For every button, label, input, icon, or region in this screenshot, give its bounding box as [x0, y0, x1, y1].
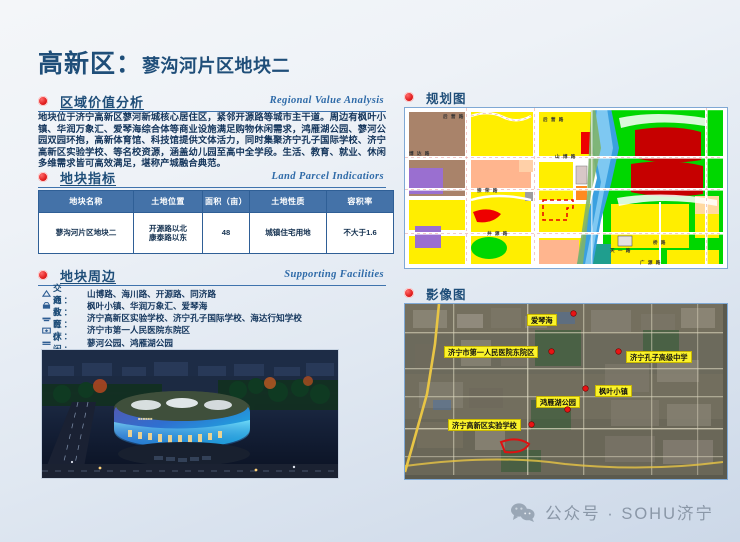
section-bullet-icon: [404, 288, 414, 298]
facility-value: 蓼河公园、鸿雁湖公园: [87, 337, 173, 349]
svg-text:■■■■■■: ■■■■■■: [138, 416, 153, 421]
commerce-icon: [40, 301, 53, 310]
wechat-icon: [510, 502, 536, 522]
map-poi-marker[interactable]: [583, 386, 588, 391]
facility-row: 医 疗：济宁市第一人民医院东院区: [40, 325, 386, 337]
map-poi-marker[interactable]: [616, 349, 621, 354]
facility-row: 休 闲：蓼河公园、鸿雁湖公园: [40, 337, 386, 349]
map-poi-label[interactable]: 爱琴海: [527, 314, 557, 326]
map-poi-label[interactable]: 鸿雁湖公园: [536, 396, 580, 408]
cell-location-line1: 开源路以北: [135, 224, 201, 234]
planning-road-label: 崇 荣 路: [477, 188, 498, 194]
education-icon: [40, 314, 53, 323]
planning-road-label: 山 博 路: [555, 154, 576, 160]
cell-far: 不大于1.6: [327, 213, 394, 254]
leisure-icon: [40, 338, 53, 347]
section-bullet-icon: [38, 96, 48, 106]
satellite-map[interactable]: 爱琴海济宁市第一人民医院东院区济宁孔子高级中学枫叶小镇鸿雁湖公园济宁高新区实验学…: [404, 303, 728, 480]
rendering-illustration: ■■■■■■: [42, 350, 338, 478]
table-header-nature: 土地性质: [250, 191, 327, 213]
map-poi-label[interactable]: 济宁高新区实验学校: [448, 419, 521, 431]
map-poi-label[interactable]: 济宁市第一人民医院东院区: [444, 346, 538, 358]
map-poi-marker[interactable]: [549, 349, 554, 354]
table-header-location: 土地位置: [134, 191, 203, 213]
section-satellite-map: 影像图: [404, 284, 730, 301]
section-title-planning-map: 规划图: [426, 88, 467, 107]
section-bullet-icon: [404, 92, 414, 102]
map-poi-marker[interactable]: [571, 311, 576, 316]
table-header-row: 地块名称 土地位置 面积（亩） 土地性质 容积率: [39, 191, 394, 213]
section-bullet-icon: [38, 270, 48, 280]
facility-value: 山博路、海川路、开源路、同济路: [87, 288, 216, 300]
planning-map[interactable]: 后 营 路后 营 路山 博 路博 达 路崇 荣 路井 源 路广 源 路天 一 路…: [404, 107, 728, 269]
page-title: 高新区：蓼沟河片区地块二: [38, 44, 290, 80]
section-bullet-icon: [38, 172, 48, 182]
section-title-satellite-map: 影像图: [426, 284, 467, 303]
planning-map-graphic: [405, 108, 723, 264]
section-indicators: 地块指标 Land Parcel Indicatiors: [38, 168, 386, 188]
cell-location-line2: 康泰路以东: [135, 233, 201, 243]
footer-brand: 公众号 · SOHU济宁: [510, 500, 714, 524]
medical-icon: [40, 326, 53, 335]
map-poi-marker[interactable]: [565, 407, 570, 412]
section-title-indicators: 地块指标: [60, 168, 116, 187]
page-title-parcel: 蓼沟河片区地块二: [142, 56, 290, 76]
facility-row: 商 业：枫叶小镇、华润万象汇、爱琴海: [40, 300, 386, 312]
facility-value: 济宁市第一人民医院东院区: [87, 324, 190, 336]
section-subtitle-value-analysis: Regional Value Analysis: [270, 95, 384, 106]
planning-road-label: 井 源 路: [487, 231, 508, 237]
satellite-map-graphic: [405, 304, 723, 475]
cell-location: 开源路以北 康泰路以东: [134, 213, 203, 254]
planning-road-label: 天 一 路: [610, 248, 631, 254]
cell-parcel-name: 蓼沟河片区地块二: [39, 213, 134, 254]
planning-road-label: 后 营 路: [443, 114, 464, 120]
facilities-list: 交 通：山博路、海川路、开源路、同济路商 业：枫叶小镇、华润万象汇、爱琴海教 育…: [40, 288, 386, 349]
map-poi-marker[interactable]: [529, 422, 534, 427]
table-row: 蓼沟河片区地块二 开源路以北 康泰路以东 48 城镇住宅用地 不大于1.6: [39, 213, 394, 254]
footer-text: 公众号 · SOHU济宁: [545, 500, 714, 524]
section-title-value-analysis: 区域价值分析: [60, 92, 144, 111]
section-planning-map: 规划图: [404, 88, 730, 105]
wechat-glyph: [510, 502, 536, 522]
section-subtitle-facilities: Supporting Facilities: [284, 269, 384, 280]
page-title-district: 高新区：: [38, 50, 142, 78]
planning-road-label: 桥 路: [653, 240, 666, 246]
table-header-name: 地块名称: [39, 191, 134, 213]
facility-value: 枫叶小镇、华润万象汇、爱琴海: [87, 300, 207, 312]
planning-road-label: 博 达 路: [409, 151, 430, 157]
section-facilities: 地块周边 Supporting Facilities: [38, 266, 386, 286]
section-value-analysis: 区域价值分析 Regional Value Analysis: [38, 92, 386, 112]
planning-road-label: 广 源 路: [640, 260, 661, 266]
cell-nature: 城镇住宅用地: [250, 213, 327, 254]
cell-area: 48: [203, 213, 250, 254]
transit-icon: [40, 289, 53, 298]
table-header-far: 容积率: [327, 191, 394, 213]
planning-road-label: 后 营 路: [543, 117, 564, 123]
map-poi-label[interactable]: 济宁孔子高级中学: [626, 351, 692, 363]
value-analysis-paragraph: 地块位于济宁高新区蓼河新城核心居住区，紧邻开源路等城市主干道。周边有枫叶小镇、华…: [38, 112, 386, 170]
land-parcel-table: 地块名称 土地位置 面积（亩） 土地性质 容积率 蓼沟河片区地块二 开源路以北 …: [38, 190, 394, 254]
facility-value: 济宁高新区实验学校、济宁孔子国际学校、海达行知学校: [87, 312, 302, 324]
section-subtitle-indicators: Land Parcel Indicatiors: [272, 171, 384, 182]
facility-row: 教 育：济宁高新区实验学校、济宁孔子国际学校、海达行知学校: [40, 312, 386, 324]
project-rendering-photo: ■■■■■■: [41, 349, 339, 479]
facility-row: 交 通：山博路、海川路、开源路、同济路: [40, 288, 386, 300]
poster-page: 高新区：蓼沟河片区地块二 区域价值分析 Regional Value Analy…: [0, 0, 740, 542]
map-poi-label[interactable]: 枫叶小镇: [595, 385, 632, 397]
table-header-area: 面积（亩）: [203, 191, 250, 213]
